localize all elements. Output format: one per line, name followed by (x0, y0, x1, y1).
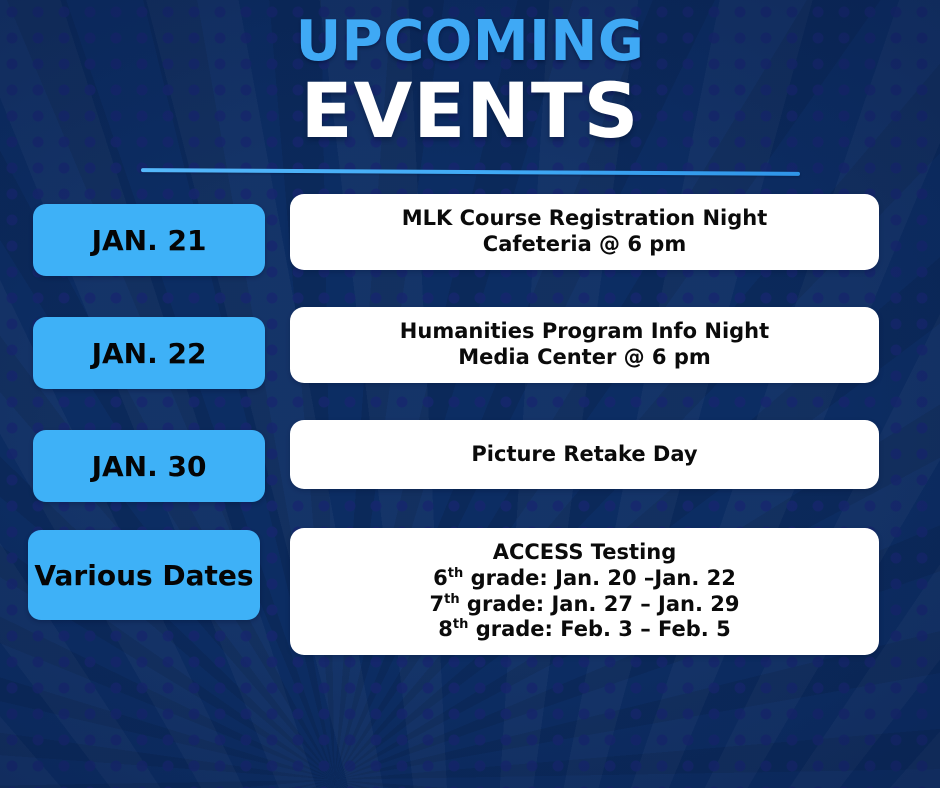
event-detail-line: 7th grade: Jan. 27 – Jan. 29 (430, 592, 740, 618)
event-date-pill: JAN. 30 (33, 430, 265, 502)
event-detail-card: Humanities Program Info Night Media Cent… (290, 307, 879, 383)
event-date-pill: JAN. 21 (33, 204, 265, 276)
upcoming-events-poster: UPCOMING EVENTS JAN. 21 MLK Course Regis… (0, 0, 940, 788)
ordinal-number: 8 (438, 617, 453, 641)
detail-text: grade: Jan. 20 –Jan. 22 (463, 566, 736, 590)
event-detail-line: Picture Retake Day (471, 442, 697, 468)
event-detail-card: MLK Course Registration Night Cafeteria … (290, 194, 879, 270)
event-detail-line: ACCESS Testing (493, 540, 677, 566)
poster-content: UPCOMING EVENTS JAN. 21 MLK Course Regis… (0, 0, 940, 788)
event-detail-line: 8th grade: Feb. 3 – Feb. 5 (438, 617, 730, 643)
event-detail-line: 6th grade: Jan. 20 –Jan. 22 (433, 566, 736, 592)
detail-text: grade: Feb. 3 – Feb. 5 (468, 617, 730, 641)
poster-header: UPCOMING EVENTS (0, 14, 940, 150)
event-detail-line: Humanities Program Info Night (400, 319, 769, 345)
event-date-pill: JAN. 22 (33, 317, 265, 389)
ordinal-number: 6 (433, 566, 448, 590)
event-detail-line: MLK Course Registration Night (402, 206, 768, 232)
ordinal-suffix: th (448, 566, 464, 581)
ordinal-number: 7 (430, 592, 445, 616)
ordinal-suffix: th (444, 592, 460, 607)
event-date-pill: Various Dates (28, 530, 260, 620)
event-detail-line: Media Center @ 6 pm (458, 345, 711, 371)
event-detail-card: Picture Retake Day (290, 420, 879, 489)
event-detail-line: Cafeteria @ 6 pm (483, 232, 686, 258)
title-line-events: EVENTS (0, 72, 940, 150)
ordinal-suffix: th (453, 617, 469, 632)
event-detail-card: ACCESS Testing 6th grade: Jan. 20 –Jan. … (290, 528, 879, 655)
title-line-upcoming: UPCOMING (0, 14, 940, 70)
title-divider-line (141, 168, 800, 176)
detail-text: grade: Jan. 27 – Jan. 29 (460, 592, 740, 616)
